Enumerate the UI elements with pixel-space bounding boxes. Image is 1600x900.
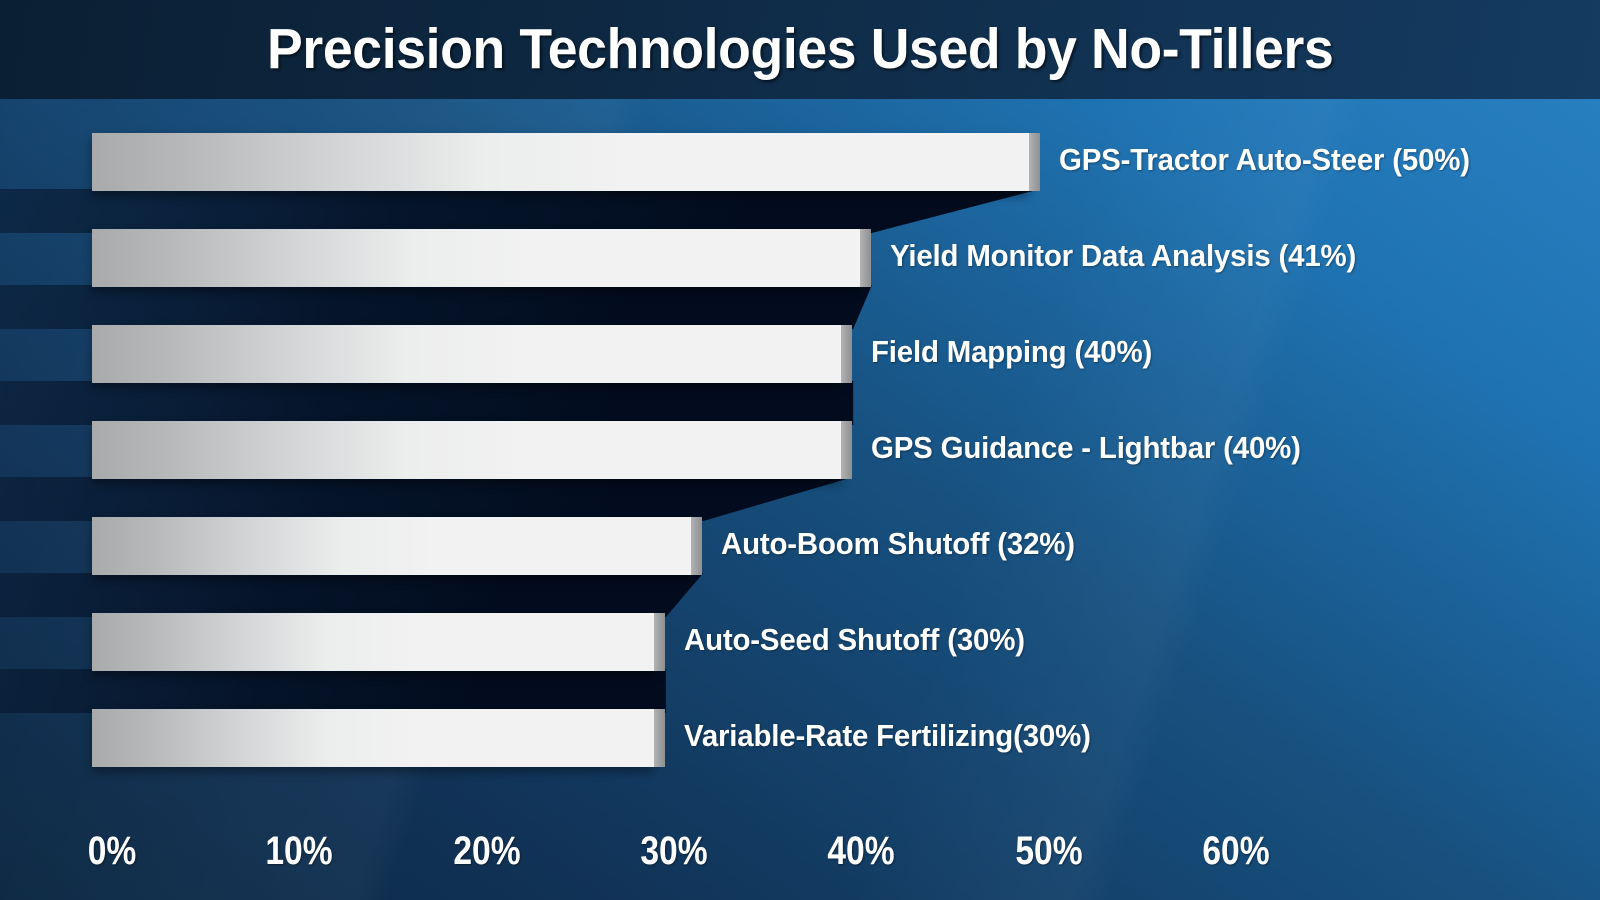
- bar[interactable]: [92, 229, 860, 287]
- x-axis: 0%10%20%30%40%50%60%: [0, 831, 1600, 891]
- bar[interactable]: [92, 325, 841, 383]
- x-axis-tick-label: 60%: [1202, 831, 1269, 871]
- x-axis-tick-label: 10%: [266, 831, 333, 871]
- bar-end-cap: [654, 709, 665, 767]
- x-axis-tick-label: 40%: [828, 831, 895, 871]
- x-axis-tick-label: 30%: [640, 831, 707, 871]
- bar[interactable]: [92, 613, 654, 671]
- x-axis-tick-label: 0%: [88, 831, 137, 871]
- bar-data-label: Field Mapping (40%): [871, 334, 1152, 370]
- bar-data-label: Yield Monitor Data Analysis (41%): [890, 238, 1356, 274]
- bar[interactable]: [92, 517, 691, 575]
- chart-title: Precision Technologies Used by No-Tiller…: [267, 21, 1333, 78]
- title-banner: Precision Technologies Used by No-Tiller…: [0, 0, 1600, 99]
- bar-data-label: GPS Guidance - Lightbar (40%): [871, 430, 1301, 466]
- bar-end-cap: [1029, 133, 1040, 191]
- bar-data-label: Auto-Boom Shutoff (32%): [721, 526, 1075, 562]
- bar-end-cap: [841, 421, 852, 479]
- x-axis-tick-label: 20%: [453, 831, 520, 871]
- plot-area: GPS-Tractor Auto-Steer (50%)Yield Monito…: [0, 99, 1600, 900]
- bar-end-cap: [841, 325, 852, 383]
- bar-end-cap: [691, 517, 702, 575]
- bar-end-cap: [654, 613, 665, 671]
- bar-data-label: GPS-Tractor Auto-Steer (50%): [1059, 142, 1470, 178]
- bar-series: GPS-Tractor Auto-Steer (50%)Yield Monito…: [0, 99, 1600, 900]
- bar-data-label: Variable-Rate Fertilizing(30%): [684, 718, 1091, 754]
- bar[interactable]: [92, 421, 841, 479]
- bar[interactable]: [92, 133, 1029, 191]
- bar[interactable]: [92, 709, 654, 767]
- chart-slide: Precision Technologies Used by No-Tiller…: [0, 0, 1600, 900]
- bar-data-label: Auto-Seed Shutoff (30%): [684, 622, 1025, 658]
- bar-end-cap: [860, 229, 871, 287]
- x-axis-tick-label: 50%: [1015, 831, 1082, 871]
